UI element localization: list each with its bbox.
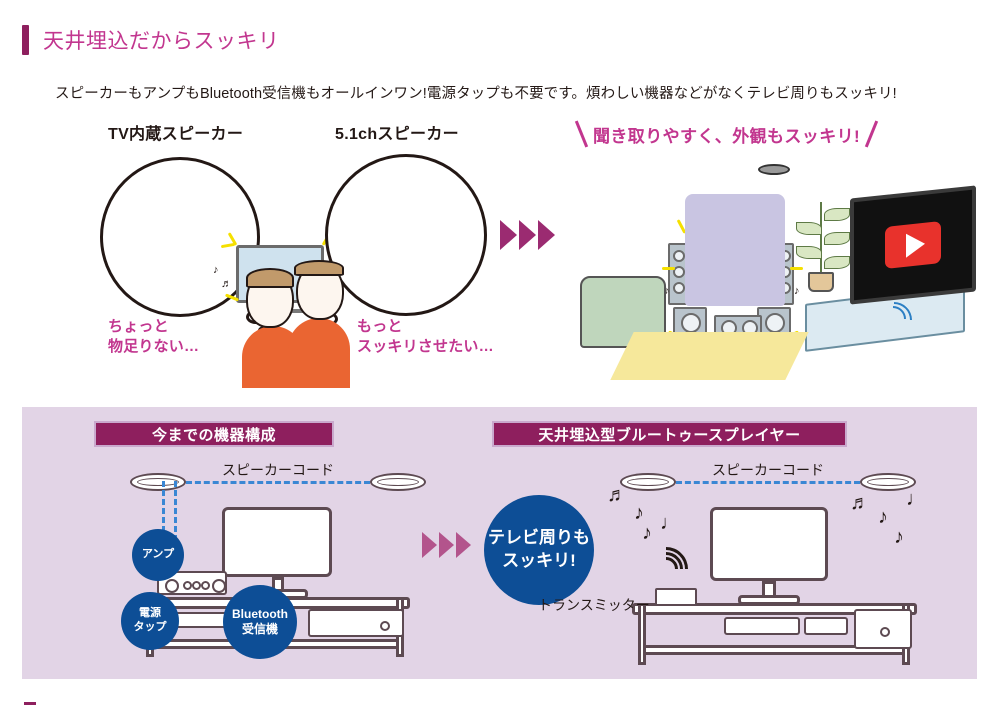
- av-component-unit: [724, 617, 800, 635]
- music-note-icon: ♪: [634, 503, 644, 523]
- rug: [610, 332, 808, 380]
- transmitter-unit: [655, 588, 697, 606]
- right-comparison-title: 5.1chスピーカー: [335, 120, 459, 144]
- av-cabinet-door: [854, 609, 912, 649]
- av-component-unit: [804, 617, 848, 635]
- character-left-hair: [246, 268, 294, 288]
- chevron-right-icon: [439, 532, 454, 558]
- page-title: 天井埋込だからスッキリ: [22, 25, 280, 55]
- tv-right-diagram: [710, 507, 828, 581]
- slash-decoration-right: [865, 120, 878, 147]
- configuration-comparison-panel: 今までの機器構成 天井埋込型ブルートゥースプレイヤー スピーカーコード アンプ …: [22, 407, 977, 679]
- chevron-right-icon: [422, 532, 437, 558]
- character-right-body: [288, 318, 350, 388]
- panel-header-current: 今までの機器構成: [94, 421, 334, 447]
- badge-power-strip: 電源 タップ: [121, 592, 179, 650]
- music-note-icon: ♪: [894, 527, 904, 547]
- footer-marker: [24, 702, 36, 705]
- play-triangle-icon: [906, 232, 925, 258]
- badge-bluetooth-receiver: Bluetooth 受信機: [223, 585, 297, 659]
- speaker-cord-label-right: スピーカーコード: [712, 460, 824, 480]
- curtain: [685, 194, 785, 306]
- music-note-icon: ♪: [878, 507, 888, 527]
- speaker-cord-label-left: スピーカーコード: [222, 460, 334, 480]
- music-note-icon: ♬: [221, 278, 232, 290]
- panel-header-new: 天井埋込型ブルートゥースプレイヤー: [492, 421, 847, 447]
- heading-accent-bar: [22, 25, 29, 55]
- right-speech-text: もっと スッキリさせたい…: [357, 317, 494, 358]
- lead-paragraph: スピーカーもアンプもBluetooth受信機もオールインワン!電源タップも不要で…: [55, 82, 897, 103]
- sparkle-icon: [221, 243, 235, 248]
- ceiling-speaker-left-1: [130, 473, 186, 491]
- leaf-icon: [796, 222, 822, 235]
- leaf-icon: [796, 246, 822, 259]
- music-note-icon: ♩: [660, 513, 680, 533]
- music-note-icon: ♬: [607, 485, 627, 505]
- music-note-icon: ♩: [906, 489, 926, 509]
- plant-pot: [808, 272, 834, 292]
- chevron-right-icon: [500, 220, 517, 250]
- speaker-cord-line: [186, 481, 370, 484]
- ceiling-speaker-icon: [758, 164, 790, 175]
- play-button-icon: [885, 221, 941, 269]
- panel-transition-arrow: [422, 532, 471, 558]
- ceiling-speaker-right-1: [620, 473, 676, 491]
- slash-decoration-left: [575, 120, 588, 147]
- plant-stem: [820, 202, 822, 274]
- leaf-icon: [824, 256, 850, 269]
- comparison-illustration: TV内蔵スピーカー 5.1chスピーカー ♪ ♬ ♪ ♬: [0, 112, 1000, 387]
- transmitter-label: トランスミッター: [538, 595, 650, 615]
- thought-bubble-tv-builtin: ♪ ♬ ♪ ♬: [100, 157, 260, 317]
- chevron-right-icon: [456, 532, 471, 558]
- left-comparison-title: TV内蔵スピーカー: [108, 120, 243, 144]
- living-room-illustration: [580, 164, 980, 389]
- heading-label: 天井埋込だからスッキリ: [43, 25, 280, 55]
- leaf-icon: [824, 208, 850, 221]
- leaf-icon: [824, 232, 850, 245]
- comparison-arrow: [500, 220, 555, 250]
- left-speech-text: ちょっと 物足りない…: [108, 317, 199, 358]
- tv-left-diagram: [222, 507, 332, 577]
- character-right-hair: [294, 260, 344, 276]
- music-note-icon: ♪: [213, 264, 219, 276]
- callout-clean-around-tv: テレビ周りも スッキリ!: [484, 495, 594, 605]
- music-note-icon: ♬: [850, 493, 870, 513]
- av-component-unit: [308, 609, 404, 637]
- badge-amplifier: アンプ: [132, 529, 184, 581]
- ceiling-speaker-left-2: [370, 473, 426, 491]
- result-headline: 聞き取りやすく、外観もスッキリ!: [580, 120, 873, 148]
- chevron-right-icon: [538, 220, 555, 250]
- result-headline-text: 聞き取りやすく、外観もスッキリ!: [593, 122, 860, 147]
- thought-bubble-51ch: ♪ ♪ ♬ ♪: [325, 154, 487, 316]
- wall-tv: [850, 185, 976, 304]
- music-note-icon: ♪: [642, 523, 652, 543]
- chevron-right-icon: [519, 220, 536, 250]
- speaker-cord-line: [676, 481, 860, 484]
